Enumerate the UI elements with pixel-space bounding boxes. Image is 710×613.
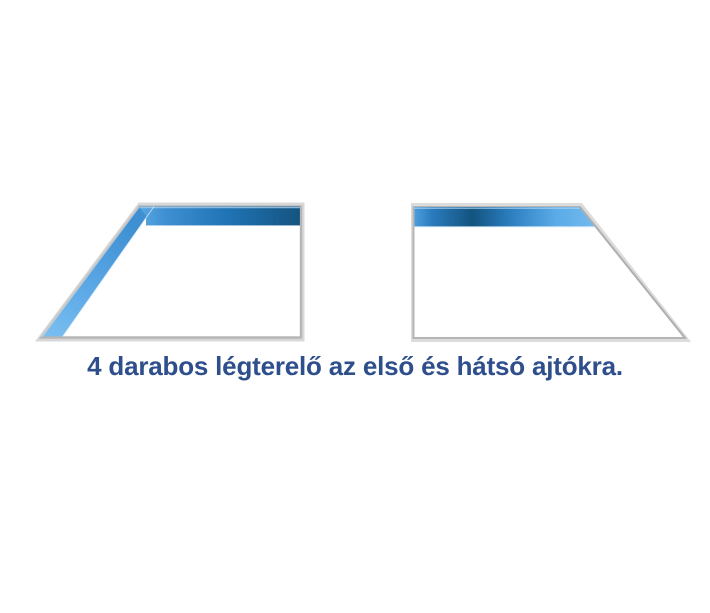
product-figure: 4 darabos légterelő az első és hátsó ajt… — [0, 0, 710, 613]
figure-caption: 4 darabos légterelő az első és hátsó ajt… — [0, 351, 710, 382]
rear-deflector-top-band — [414, 207, 597, 227]
front-deflector-top-band — [139, 207, 301, 227]
front-door-deflector — [40, 205, 302, 339]
wind-deflector-illustration-svg — [0, 0, 710, 613]
rear-door-deflector — [413, 205, 687, 340]
